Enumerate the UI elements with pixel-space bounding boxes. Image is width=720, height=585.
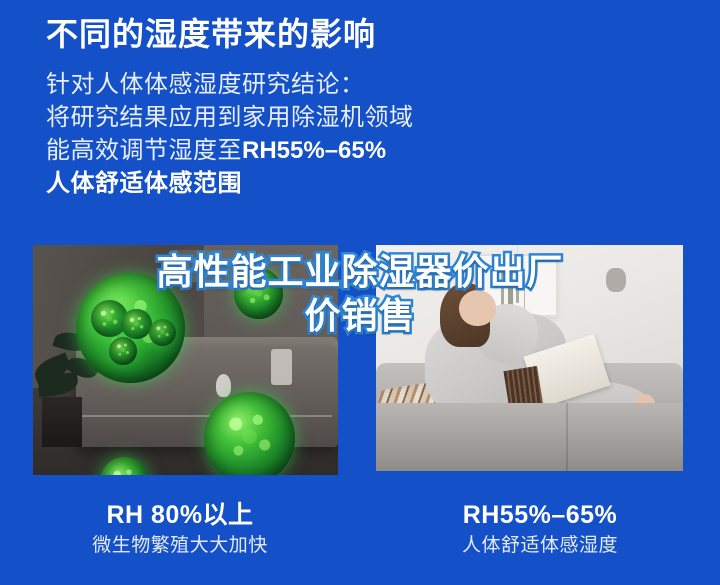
- body-line-3-highlight: RH55%–65%: [242, 137, 386, 164]
- caption-right-main: RH55%–65%: [360, 498, 720, 532]
- right-sofa-seam: [566, 403, 568, 471]
- left-side-table: [271, 349, 292, 386]
- microbe-cluster-bottom: [204, 392, 296, 475]
- photo-right-comfort: [376, 245, 683, 471]
- left-vase: [216, 374, 231, 397]
- body-line-3: 能高效调节湿度至RH55%–65%: [46, 134, 686, 167]
- microbe-ball: [109, 337, 136, 365]
- left-sofa-seam: [82, 415, 332, 417]
- caption-right-sub: 人体舒适体感湿度: [360, 532, 720, 560]
- right-sofa-seat: [376, 403, 683, 471]
- woman-head: [459, 290, 496, 326]
- caption-left-main: RH 80%以上: [0, 498, 360, 532]
- wall-speaker-icon: [606, 268, 626, 293]
- photo-row: [0, 245, 720, 477]
- photo-left-microbes: [33, 245, 338, 475]
- body-line-3-prefix: 能高效调节湿度至: [46, 137, 242, 164]
- page-title: 不同的湿度带来的影响: [46, 12, 686, 56]
- humidity-infographic-poster: 不同的湿度带来的影响 针对人体体感湿度研究结论： 将研究结果应用到家用除湿机领域…: [0, 0, 720, 585]
- microbe-ball: [234, 268, 283, 319]
- body-line-2: 将研究结果应用到家用除湿机领域: [46, 101, 686, 134]
- caption-left-sub: 微生物繁殖大大加快: [0, 532, 360, 560]
- body-line-4: 人体舒适体感范围: [46, 167, 686, 200]
- caption-row: RH 80%以上 微生物繁殖大大加快 RH55%–65% 人体舒适体感湿度: [0, 498, 720, 580]
- left-wall-art: [170, 250, 237, 282]
- body-line-1: 针对人体体感湿度研究结论：: [46, 68, 686, 101]
- header-text-block: 不同的湿度带来的影响 针对人体体感湿度研究结论： 将研究结果应用到家用除湿机领域…: [46, 12, 686, 200]
- body-text-group: 针对人体体感湿度研究结论： 将研究结果应用到家用除湿机领域 能高效调节湿度至RH…: [46, 68, 686, 200]
- caption-right: RH55%–65% 人体舒适体感湿度: [360, 498, 720, 580]
- caption-left: RH 80%以上 微生物繁殖大大加快: [0, 498, 360, 580]
- left-plant-pot: [42, 397, 82, 448]
